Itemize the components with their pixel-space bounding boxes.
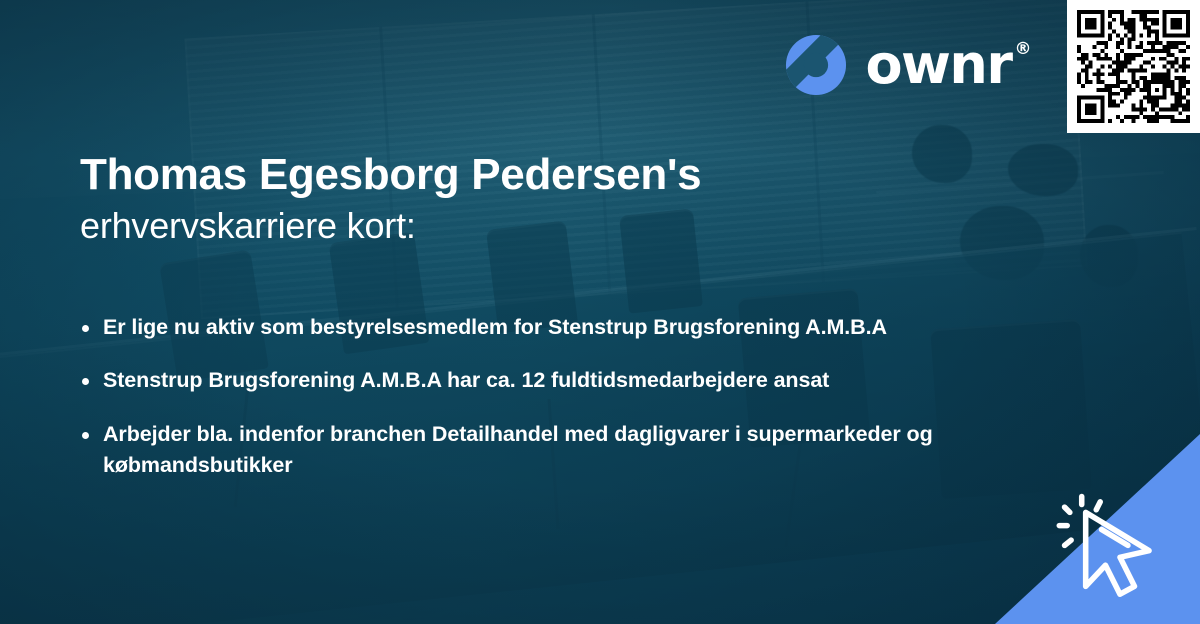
list-item: Er lige nu aktiv som bestyrelsesmedlem f… [80, 312, 1080, 343]
career-facts-list: Er lige nu aktiv som bestyrelsesmedlem f… [80, 312, 1080, 482]
person-name: Thomas Egesborg Pedersen's [80, 150, 980, 200]
list-item: Arbejder bla. indenfor branchen Detailha… [80, 419, 1080, 482]
brand-logo: ownr ® [785, 34, 1030, 96]
brand-name: ownr [865, 38, 1011, 92]
page-subtitle: erhvervskarriere kort: [80, 204, 980, 247]
brand-wordmark: ownr ® [865, 38, 1030, 92]
qr-code[interactable] [1067, 0, 1200, 133]
business-card-banner: ownr ® Thomas Egesborg Pedersen's erhver… [0, 0, 1200, 624]
list-item: Stenstrup Brugsforening A.M.B.A har ca. … [80, 365, 1080, 396]
registered-trademark-icon: ® [1015, 41, 1031, 58]
ownr-circle-logo-icon [785, 34, 847, 96]
qr-code-image [1077, 10, 1190, 123]
page-title: Thomas Egesborg Pedersen's erhvervskarri… [80, 150, 980, 247]
